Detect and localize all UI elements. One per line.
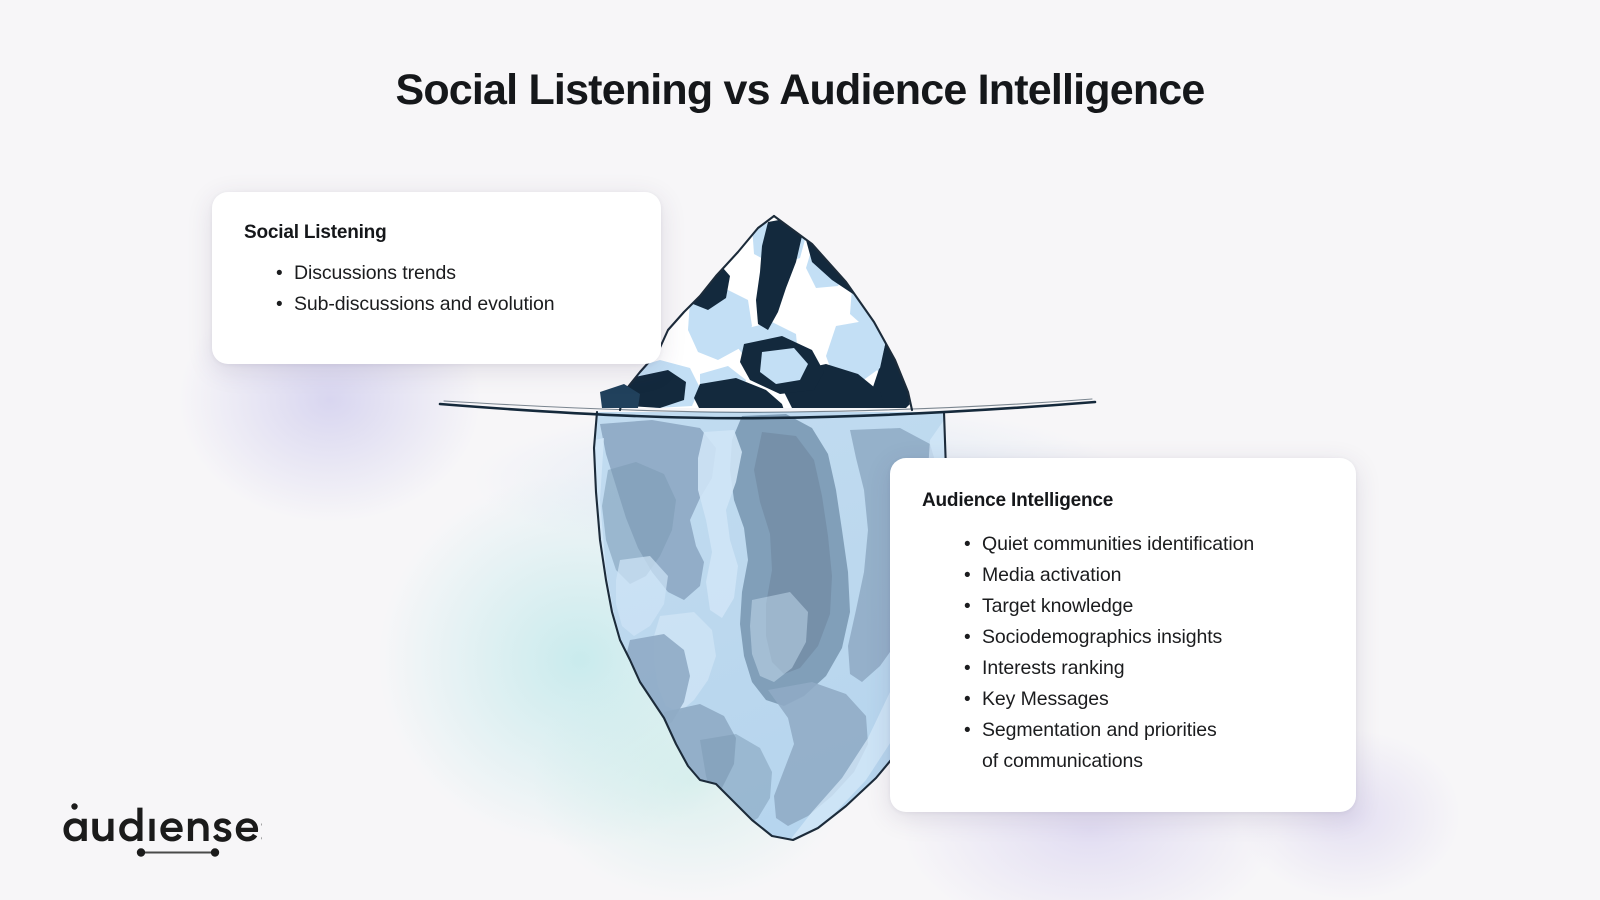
- tip-lightblue-5: [850, 282, 900, 330]
- tip-lightblue-mid-inset: [760, 348, 808, 384]
- tip-lightblue-7: [876, 348, 916, 386]
- list-item: Sub-discussions and evolution: [276, 289, 633, 320]
- rim-left: [594, 438, 744, 840]
- list-item: Interests ranking: [964, 653, 1328, 684]
- logo-dotless-i: [149, 819, 154, 841]
- highlight-crevasse-2: [654, 612, 716, 712]
- waterline: [440, 402, 1095, 418]
- tip-lightblue-inset: [826, 320, 886, 384]
- highlight-ribbon-1: [616, 556, 668, 636]
- glow-mint-lower: [480, 620, 900, 900]
- card-audience-intelligence-list: Quiet communities identification Media a…: [922, 529, 1328, 777]
- background-glow-layer: [0, 0, 1600, 900]
- list-item: Discussions trends: [276, 258, 633, 289]
- shade-left-upper: [600, 420, 716, 600]
- list-item: Quiet communities identification: [964, 529, 1328, 560]
- logo-dot-over-a: [71, 803, 77, 809]
- list-item: Key Messages: [964, 684, 1328, 715]
- waterline-secondary: [444, 399, 1092, 412]
- logo-underline-connector: [137, 848, 219, 856]
- shade-lower-left: [626, 634, 690, 730]
- tip-navy-base-left: [622, 370, 686, 408]
- tip-navy-base-mid: [694, 378, 784, 410]
- glow-mint-center: [300, 400, 860, 900]
- tip-lightblue-2: [620, 360, 700, 408]
- list-item: Target knowledge: [964, 591, 1328, 622]
- tip-navy-left-blob: [682, 260, 730, 310]
- tip-lightblue-4: [806, 246, 848, 288]
- iceberg-illustration: [0, 0, 1600, 900]
- card-social-listening-list: Discussions trends Sub-discussions and e…: [244, 258, 633, 320]
- shade-center-core: [754, 432, 832, 674]
- tip-lightblue-3: [752, 220, 806, 266]
- card-social-listening-heading: Social Listening: [244, 222, 633, 244]
- tip-navy-base-right: [784, 364, 886, 408]
- highlight-ribbon-2: [750, 592, 808, 682]
- card-social-listening: Social Listening Discussions trends Sub-…: [212, 192, 661, 364]
- list-item-continuation: of communications: [964, 746, 1328, 777]
- shade-lower-mid: [664, 704, 736, 802]
- tip-navy-stripe: [756, 218, 802, 330]
- tip-navy-mid: [740, 336, 824, 394]
- page-title: Social Listening vs Audience Intelligenc…: [0, 66, 1600, 115]
- tip-lightblue-1: [688, 288, 752, 360]
- audiense-logo: [62, 800, 262, 862]
- shade-center-column: [730, 414, 850, 706]
- tip-lightblue-6: [738, 322, 798, 370]
- list-item: Segmentation and priorities: [964, 715, 1328, 746]
- shade-lower-right: [768, 682, 868, 826]
- tip-navy-right-mass: [806, 232, 926, 408]
- ice-chunk-left: [600, 384, 640, 408]
- list-item: Sociodemographics insights: [964, 622, 1328, 653]
- tip-lightblue-8: [700, 366, 746, 404]
- card-audience-intelligence-heading: Audience Intelligence: [922, 490, 1328, 512]
- iceberg-tip-outline-right: [774, 216, 912, 410]
- shade-left-core: [602, 462, 676, 584]
- list-item: Media activation: [964, 560, 1328, 591]
- card-audience-intelligence: Audience Intelligence Quiet communities …: [890, 458, 1356, 812]
- highlight-crevasse-1: [698, 430, 742, 618]
- shade-lower-core: [700, 734, 772, 828]
